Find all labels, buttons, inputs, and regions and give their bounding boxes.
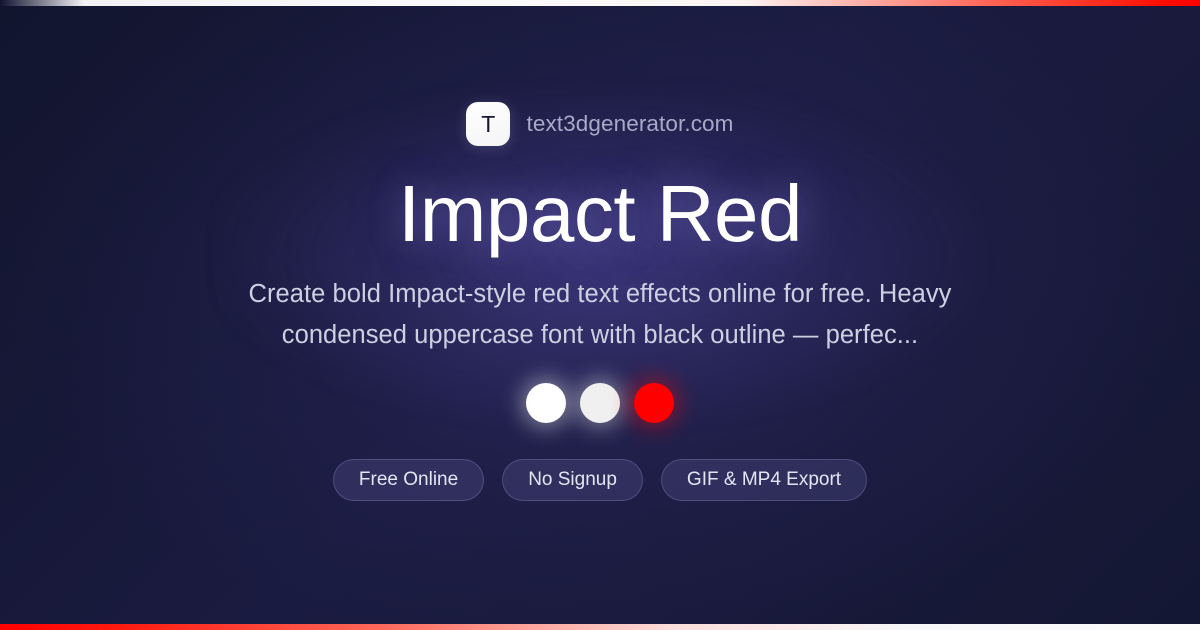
feature-pill-no-signup: No Signup bbox=[502, 459, 643, 501]
feature-pill-free-online: Free Online bbox=[333, 459, 484, 501]
brand-row: T text3dgenerator.com bbox=[466, 102, 733, 146]
feature-pill-gif-mp4-export: GIF & MP4 Export bbox=[661, 459, 867, 501]
content-column: T text3dgenerator.com Impact Red Create … bbox=[0, 0, 1200, 630]
brand-domain-label: text3dgenerator.com bbox=[526, 111, 733, 137]
swatch-off-white bbox=[580, 383, 620, 423]
color-swatch-row bbox=[526, 383, 674, 423]
page-description: Create bold Impact-style red text effect… bbox=[205, 274, 995, 357]
brand-logo-badge: T bbox=[466, 102, 510, 146]
og-preview-card: T text3dgenerator.com Impact Red Create … bbox=[0, 0, 1200, 630]
feature-pill-row: Free Online No Signup GIF & MP4 Export bbox=[333, 459, 867, 501]
top-accent-strip bbox=[0, 0, 1200, 6]
page-title: Impact Red bbox=[398, 172, 802, 256]
swatch-white bbox=[526, 383, 566, 423]
swatch-red bbox=[634, 383, 674, 423]
bottom-accent-strip bbox=[0, 624, 1200, 630]
